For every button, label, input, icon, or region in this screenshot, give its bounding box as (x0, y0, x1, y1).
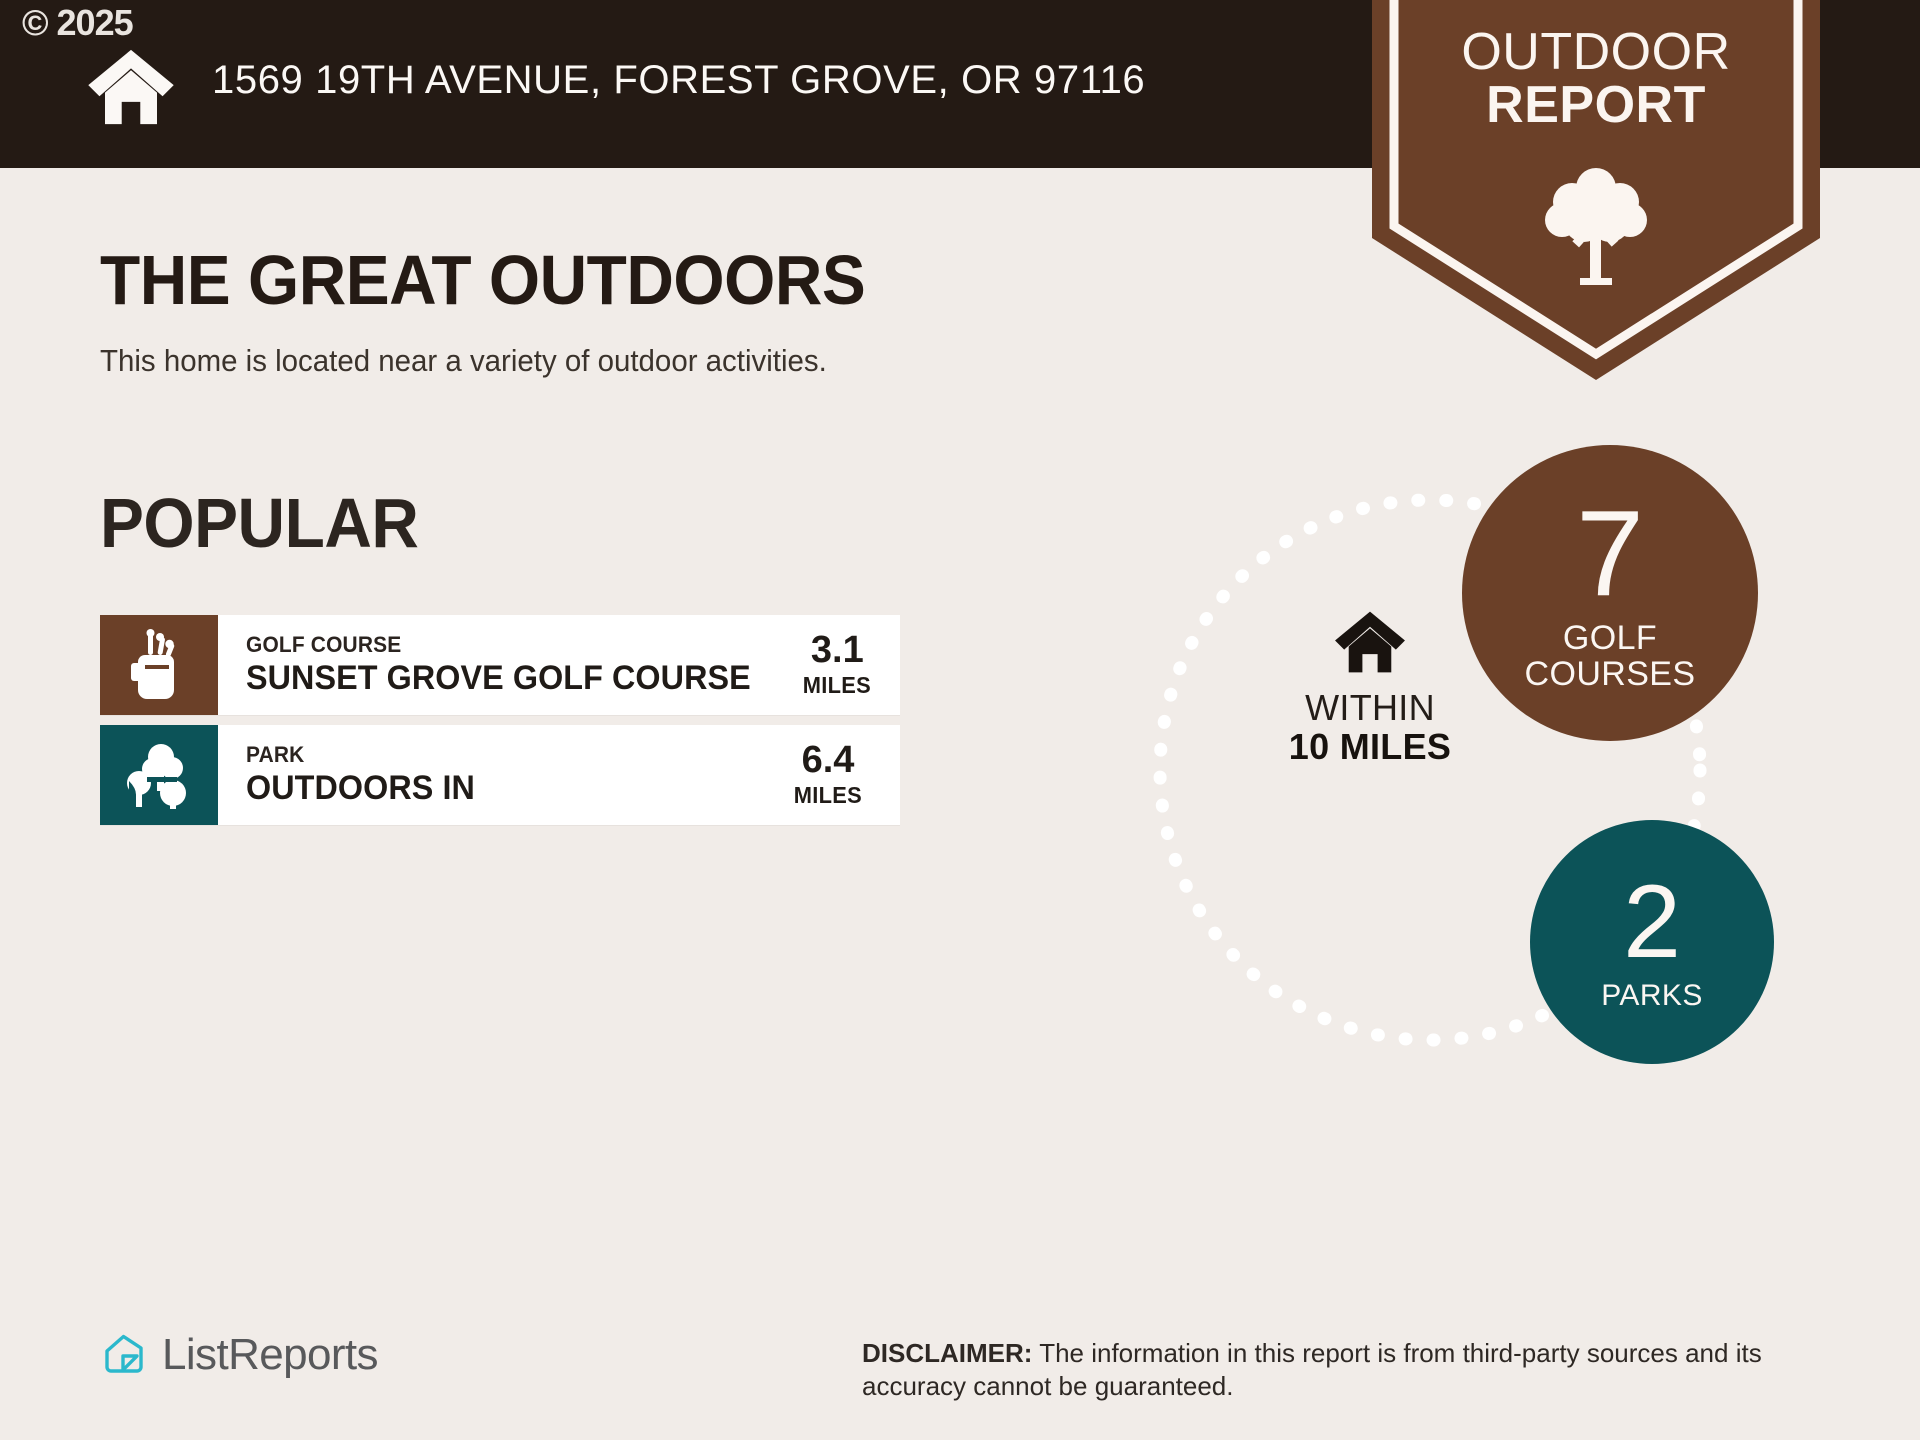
listreports-logo[interactable]: ListReports (100, 1330, 378, 1380)
list-item-text: PARK OUTDOORS IN (218, 725, 768, 825)
tree-icon (1544, 162, 1648, 286)
list-item-name: SUNSET GROVE GOLF COURSE (246, 659, 751, 698)
park-trees-icon (100, 725, 218, 825)
stat-circle-parks: 2 PARKS (1530, 820, 1774, 1064)
golf-bag-icon (100, 615, 218, 715)
list-item-distance: 6.4 MILES (768, 725, 900, 825)
stat-count: 7 (1576, 494, 1644, 614)
list-item[interactable]: GOLF COURSE SUNSET GROVE GOLF COURSE 3.1… (100, 615, 900, 715)
stat-circle-golf-courses: 7 GOLF COURSES (1462, 445, 1758, 741)
distance-unit: MILES (794, 782, 862, 809)
distance-value: 6.4 (802, 741, 855, 779)
outdoor-report-badge: OUTDOOR REPORT (1372, 0, 1820, 390)
disclaimer-label: DISCLAIMER: (862, 1338, 1032, 1368)
disclaimer: DISCLAIMER: The information in this repo… (862, 1337, 1852, 1404)
popular-list: GOLF COURSE SUNSET GROVE GOLF COURSE 3.1… (100, 615, 900, 835)
stat-label: GOLF COURSES (1525, 621, 1696, 692)
stat-label-line-2: COURSES (1525, 657, 1696, 693)
list-item-category: PARK (246, 742, 742, 767)
radius-diagram: 7 GOLF COURSES 2 PARKS WITHIN 10 MILES (1010, 420, 1910, 1160)
stat-label: PARKS (1601, 980, 1702, 1012)
list-item[interactable]: PARK OUTDOORS IN 6.4 MILES (100, 725, 900, 825)
list-item-name: OUTDOORS IN (246, 769, 742, 808)
section-heading-popular: POPULAR (100, 483, 418, 563)
list-item-category: GOLF COURSE (246, 632, 751, 657)
distance-value: 3.1 (811, 631, 864, 669)
within-label: WITHIN (1240, 689, 1500, 728)
badge-title: OUTDOOR REPORT (1372, 26, 1820, 132)
badge-line-1: OUTDOOR (1372, 26, 1820, 79)
stat-label-line-1: GOLF (1525, 621, 1696, 657)
page-title: THE GREAT OUTDOORS (100, 240, 865, 320)
radius-miles-label: 10 MILES (1240, 728, 1500, 767)
property-address: 1569 19TH AVENUE, FOREST GROVE, OR 97116 (212, 58, 1145, 103)
listreports-wordmark: ListReports (162, 1330, 378, 1380)
dotted-radius-circle (1010, 420, 1910, 1160)
badge-line-2: REPORT (1372, 79, 1820, 132)
stat-count: 2 (1623, 872, 1681, 974)
house-icon (1332, 661, 1408, 678)
list-item-text: GOLF COURSE SUNSET GROVE GOLF COURSE (218, 615, 777, 715)
page-subtitle: This home is located near a variety of o… (100, 343, 827, 379)
distance-unit: MILES (803, 672, 871, 699)
list-item-distance: 3.1 MILES (777, 615, 909, 715)
house-icon (84, 48, 178, 126)
listreports-house-icon (100, 1331, 148, 1379)
copyright-watermark: © 2025 (22, 2, 133, 44)
radius-center-label: WITHIN 10 MILES (1240, 610, 1500, 767)
